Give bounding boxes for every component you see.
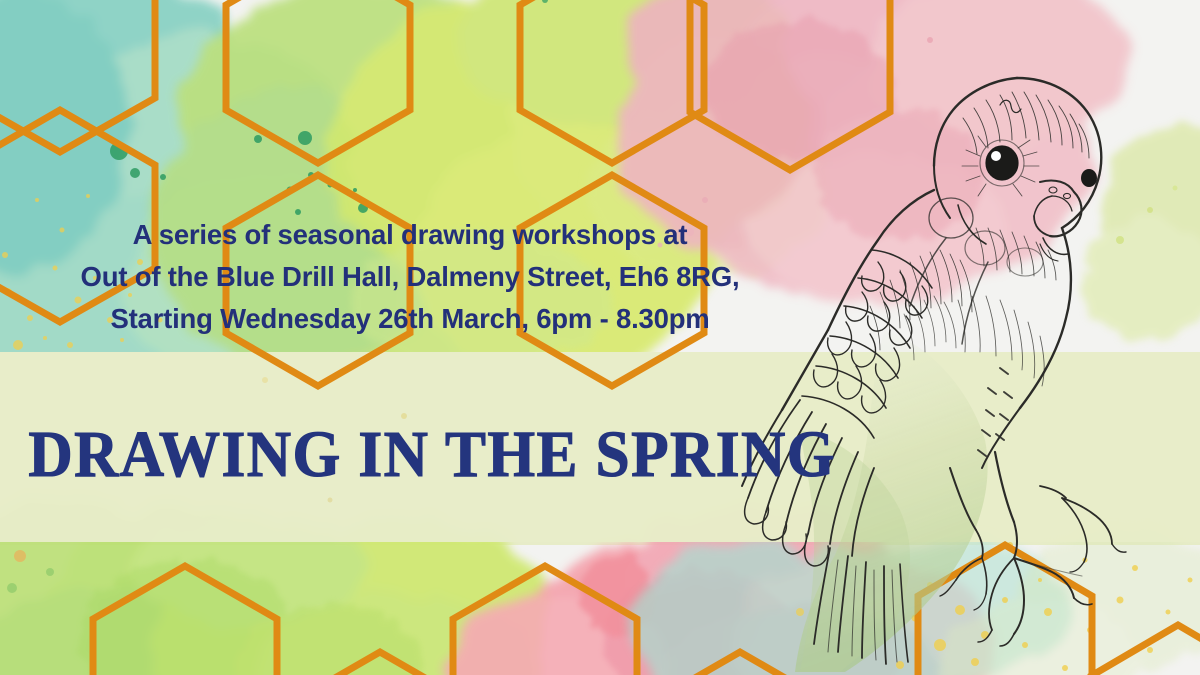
headline-line-3: Starting Wednesday 26th March, 6pm - 8.3… <box>0 298 820 340</box>
headline-line-1: A series of seasonal drawing workshops a… <box>0 214 820 256</box>
page-title: DRAWING IN THE SPRING <box>28 418 781 492</box>
bird-wing-wash <box>795 330 988 672</box>
poster-canvas: A series of seasonal drawing workshops a… <box>0 0 1200 675</box>
headline-text-block: A series of seasonal drawing workshops a… <box>0 214 820 340</box>
headline-line-2: Out of the Blue Drill Hall, Dalmeny Stre… <box>0 256 820 298</box>
title-block: DRAWING IN THE SPRING <box>0 418 810 492</box>
